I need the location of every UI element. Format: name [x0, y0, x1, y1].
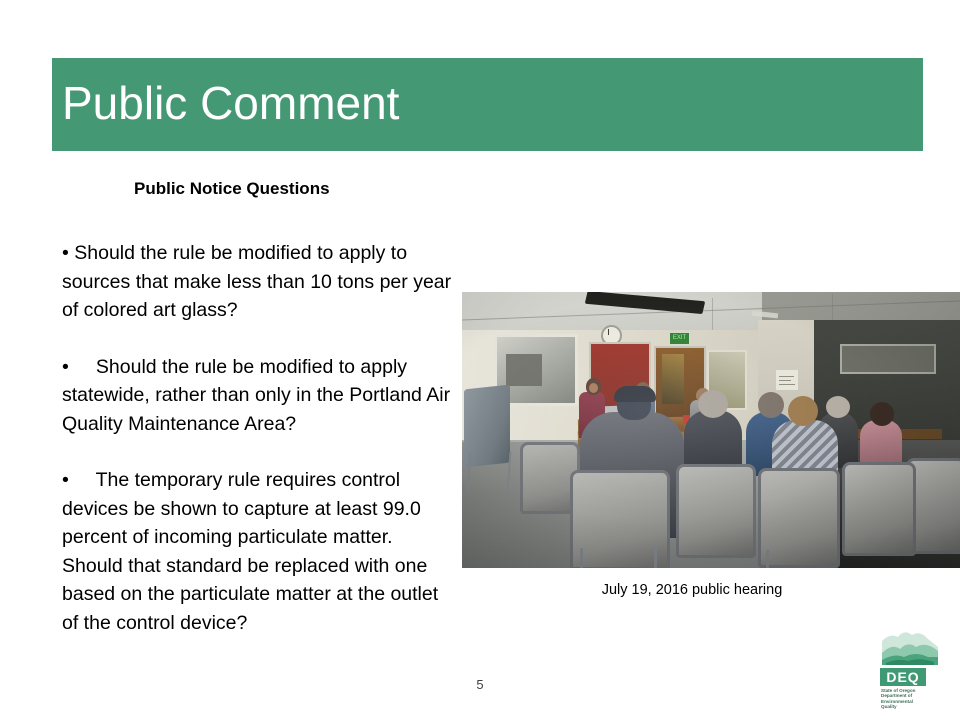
deq-tagline: State of Oregon Department of Environmen… [881, 688, 939, 710]
photo-caption: July 19, 2016 public hearing [462, 580, 922, 600]
content-heading: Public Notice Questions [134, 178, 452, 200]
deq-logo: DEQ State of Oregon Department of Enviro… [880, 627, 940, 705]
page-title: Public Comment [62, 72, 399, 134]
content-column: Public Notice Questions • Should the rul… [62, 178, 452, 637]
bullet-item: • Should the rule be modified to apply t… [62, 239, 452, 325]
bullet-item: • The temporary rule requires control de… [62, 466, 452, 637]
bullet-item: • Should the rule be modified to apply s… [62, 353, 452, 439]
page-number: 5 [470, 676, 490, 694]
slide-title-bar: Public Comment [52, 58, 923, 151]
mountain-icon [880, 627, 940, 667]
public-hearing-photo: EXIT [462, 292, 960, 568]
photo-vignette [462, 292, 960, 568]
deq-wordmark: DEQ [880, 668, 926, 686]
